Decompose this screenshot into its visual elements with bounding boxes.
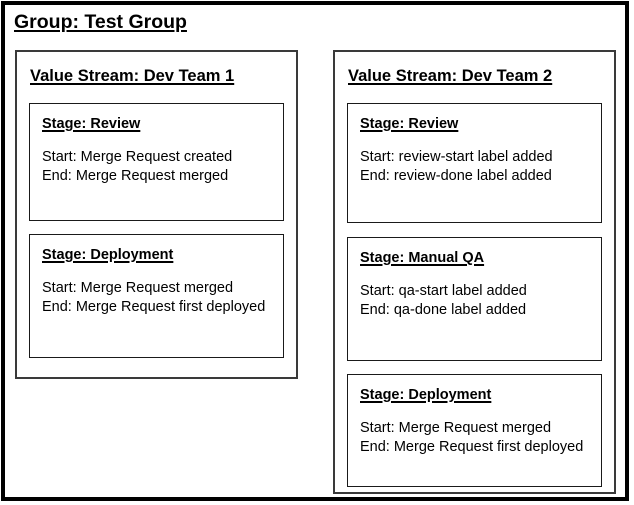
stage-start-event: Start: Merge Request merged	[42, 279, 268, 298]
stage-title: Stage: Review	[42, 116, 140, 132]
stage-title: Stage: Deployment	[360, 387, 491, 403]
stage-card: Stage: Deployment Start: Merge Request m…	[29, 234, 284, 358]
value-stream-dev-team-2: Value Stream: Dev Team 2 Stage: Review S…	[333, 50, 616, 494]
stage-end-event: End: review-done label added	[360, 167, 586, 186]
stage-title: Stage: Review	[360, 116, 458, 132]
group-title: Group: Test Group	[14, 11, 187, 34]
stage-start-event: Start: qa-start label added	[360, 282, 586, 301]
stage-end-event: End: Merge Request first deployed	[360, 438, 586, 457]
stage-body: Start: Merge Request created End: Merge …	[42, 148, 268, 185]
stage-body: Start: qa-start label added End: qa-done…	[360, 282, 586, 319]
stage-start-event: Start: Merge Request merged	[360, 419, 586, 438]
value-stream-dev-team-1: Value Stream: Dev Team 1 Stage: Review S…	[15, 50, 298, 379]
stage-body: Start: Merge Request merged End: Merge R…	[42, 279, 268, 316]
stage-body: Start: Merge Request merged End: Merge R…	[360, 419, 586, 456]
value-stream-title: Value Stream: Dev Team 2	[348, 67, 552, 86]
stage-card: Stage: Review Start: review-start label …	[347, 103, 602, 223]
stage-card: Stage: Manual QA Start: qa-start label a…	[347, 237, 602, 361]
group-frame: Group: Test Group Value Stream: Dev Team…	[1, 1, 629, 501]
stage-start-event: Start: review-start label added	[360, 148, 586, 167]
stage-end-event: End: Merge Request first deployed	[42, 298, 268, 317]
stage-card: Stage: Review Start: Merge Request creat…	[29, 103, 284, 221]
stage-end-event: End: qa-done label added	[360, 301, 586, 320]
stage-start-event: Start: Merge Request created	[42, 148, 268, 167]
stage-card: Stage: Deployment Start: Merge Request m…	[347, 374, 602, 487]
stage-body: Start: review-start label added End: rev…	[360, 148, 586, 185]
stage-title: Stage: Deployment	[42, 247, 173, 263]
stage-end-event: End: Merge Request merged	[42, 167, 268, 186]
stage-title: Stage: Manual QA	[360, 250, 484, 266]
value-stream-title: Value Stream: Dev Team 1	[30, 67, 234, 86]
